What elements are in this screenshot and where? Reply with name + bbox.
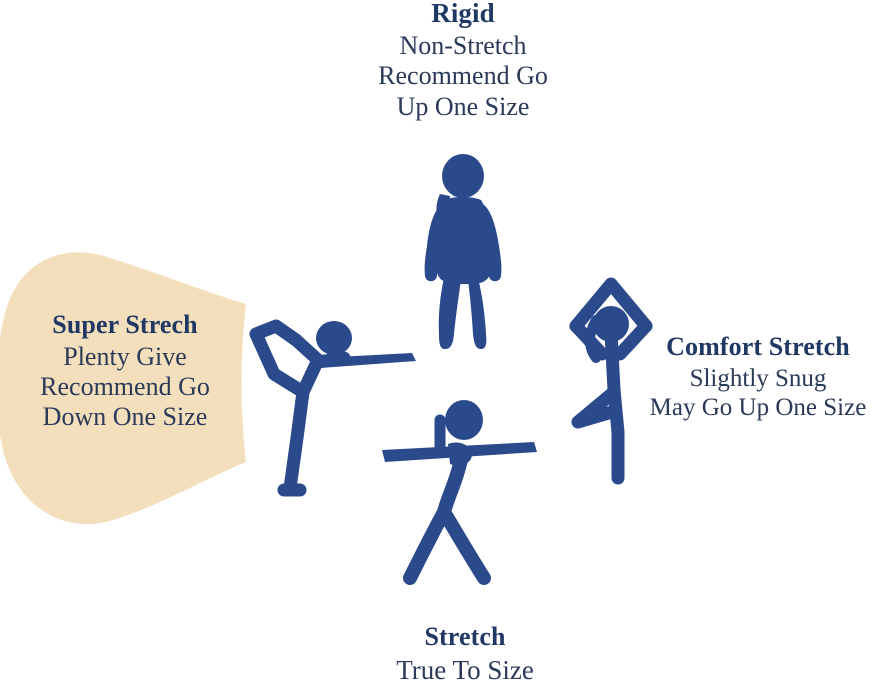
category-super-strech-text: Super Strech Plenty Give Recommend Go Do… [4,310,246,433]
rigid-line-2: Recommend Go [332,61,594,91]
comfort-stretch-heading: Comfort Stretch [632,332,884,362]
super-strech-heading: Super Strech [4,310,246,340]
rigid-heading: Rigid [332,0,594,29]
comfort-stretch-line-1: Slightly Snug [632,364,884,393]
stretch-line-1: True To Size [340,655,590,686]
super-strech-line-1: Plenty Give [4,342,246,372]
category-rigid-text: Rigid Non-Stretch Recommend Go Up One Si… [332,0,594,122]
category-comfort-stretch-text: Comfort Stretch Slightly Snug May Go Up … [632,332,884,422]
warrior-pose-figure-icon [374,392,544,588]
category-stretch-text: Stretch True To Size [340,622,590,686]
rigid-line-3: Up One Size [332,92,594,122]
comfort-stretch-line-2: May Go Up One Size [632,393,884,422]
rigid-line-1: Non-Stretch [332,31,594,61]
tree-pose-figure-icon [556,272,666,490]
stretch-size-guide-diagram: Rigid Non-Stretch Recommend Go Up One Si… [0,0,884,693]
standing-figure-icon [404,152,524,352]
super-strech-line-2: Recommend Go [4,372,246,402]
super-strech-line-3: Down One Size [4,402,246,432]
stretch-heading: Stretch [340,622,590,652]
